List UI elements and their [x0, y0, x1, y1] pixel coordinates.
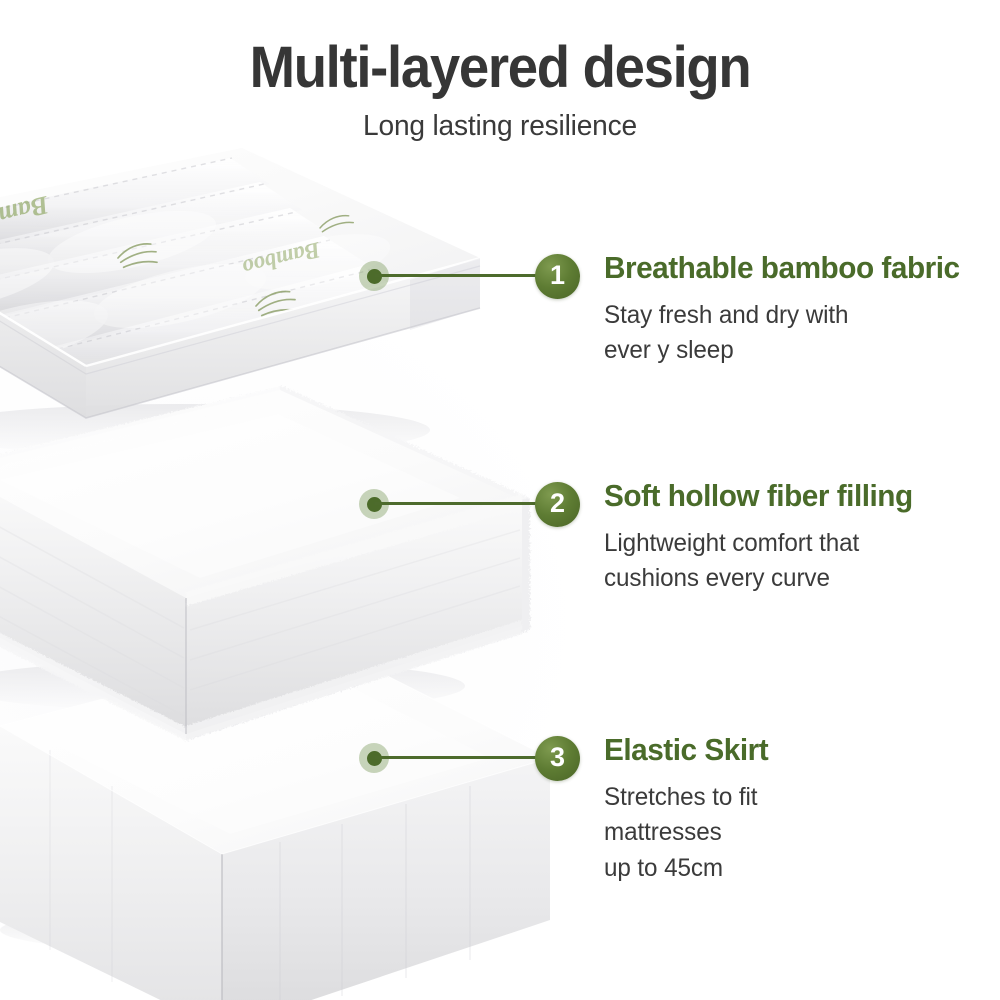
feature-body-2: Lightweight comfort that cushions every … [604, 526, 916, 597]
feature-number-badge-2: 2 [535, 482, 580, 527]
page-subtitle: Long lasting resilience [15, 110, 985, 143]
fabric-print-wordmark: Bamboo [0, 356, 1, 393]
feature-body-3: Stretches to fit mattresses up to 45cm [604, 780, 770, 887]
infographic-canvas: Multi-layered design Long lasting resili… [0, 0, 1000, 1000]
feature-heading-3: Elastic Skirt [604, 734, 768, 767]
feature-heading-1: Breathable bamboo fabric [604, 252, 960, 285]
page-title: Multi-layered design [30, 38, 970, 98]
feature-text-2: Soft hollow fiber filling Lightweight co… [604, 480, 926, 597]
leader-line-2 [374, 502, 542, 505]
feature-number-badge-3: 3 [535, 736, 580, 781]
header-block: Multi-layered design Long lasting resili… [0, 38, 1000, 143]
product-image: Bamboo Bamboo Bamboo [0, 130, 570, 940]
feature-text-3: Elastic Skirt Stretches to fit mattresse… [604, 734, 775, 886]
feature-heading-2: Soft hollow fiber filling [604, 480, 913, 513]
leader-line-1 [374, 274, 542, 277]
feature-number-badge-1: 1 [535, 254, 580, 299]
feature-text-1: Breathable bamboo fabric Stay fresh and … [604, 252, 974, 369]
feature-body-1: Stay fresh and dry with ever y sleep [604, 298, 963, 369]
leader-line-3 [374, 756, 542, 759]
